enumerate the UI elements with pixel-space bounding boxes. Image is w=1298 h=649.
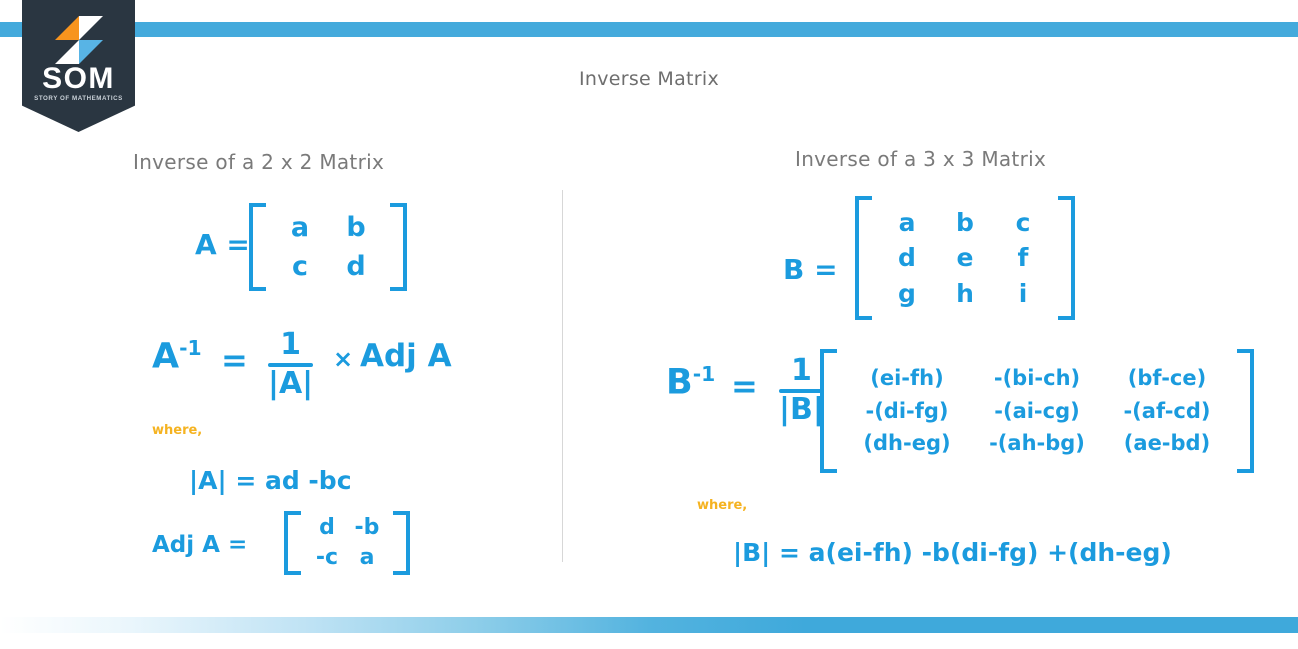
logo-quadrant-bottom-left (55, 40, 79, 64)
fraction-denominator: |B| (779, 394, 824, 426)
matrix-cell: a (347, 543, 387, 573)
matrix-cell: d (307, 513, 347, 543)
bracket-right (393, 511, 410, 575)
slide-canvas: SOM STORY OF MATHEMATICS Inverse Matrix … (0, 0, 1298, 649)
matrix-row: d e f (878, 240, 1052, 276)
matrix-row: -c a (307, 543, 387, 573)
formula-a-base: A (152, 337, 179, 377)
matrix-a-label: A = (195, 228, 250, 261)
logo-quadrant-bottom-right (79, 40, 103, 64)
matrix-cell: h (936, 276, 994, 312)
formula-a-inverse-lhs: A-1 (152, 336, 202, 377)
matrix-cell: d (328, 247, 384, 286)
matrix-cell: e (936, 240, 994, 276)
matrix-cell: -(ai-cg) (971, 395, 1103, 428)
matrix-a: a b c d (249, 203, 407, 291)
bracket-left (284, 511, 301, 575)
bracket-left (855, 196, 872, 320)
section-divider (562, 190, 563, 562)
formula-b-base: B (666, 363, 693, 403)
matrix-cell: g (878, 276, 936, 312)
matrix-cell: c (994, 205, 1052, 241)
bottom-accent-bar (0, 617, 1298, 633)
matrix-cell: -(af-cd) (1103, 395, 1231, 428)
section-heading-3x3: Inverse of a 3 x 3 Matrix (795, 147, 1046, 171)
matrix-cell: b (328, 208, 384, 247)
matrix-adj-b: (ei-fh) -(bi-ch) (bf-ce) -(di-fg) -(ai-c… (820, 349, 1254, 473)
logo-quadrant-top-right (79, 16, 103, 40)
matrix-cell: b (936, 205, 994, 241)
formula-b-inverse-lhs: B-1 (666, 362, 715, 403)
adj-a-label: Adj A = (152, 532, 247, 558)
section-heading-2x2: Inverse of a 2 x 2 Matrix (133, 150, 384, 174)
matrix-cell: -b (347, 513, 387, 543)
matrix-b-label: B = (783, 253, 838, 286)
matrix-cell: c (272, 247, 328, 286)
matrix-cell: (ae-bd) (1103, 427, 1231, 460)
page-title: Inverse Matrix (0, 68, 1298, 90)
matrix-row: a b c (878, 205, 1052, 241)
where-label-left: where, (152, 423, 202, 438)
bracket-left (249, 203, 266, 291)
matrix-cell: a (878, 205, 936, 241)
determinant-b: |B| = a(ei-fh) -b(di-fg) +(dh-eg) (733, 538, 1172, 567)
matrix-cell: a (272, 208, 328, 247)
matrix-cell: (ei-fh) (843, 362, 971, 395)
matrix-b: a b c d e f g h i (855, 196, 1075, 320)
matrix-row: d -b (307, 513, 387, 543)
matrix-row: g h i (878, 276, 1052, 312)
fraction-numerator: 1 (791, 355, 812, 387)
logo-mark-icon (55, 16, 103, 64)
where-label-right: where, (697, 498, 747, 513)
matrix-row: -(di-fg) -(ai-cg) -(af-cd) (843, 395, 1231, 428)
determinant-a: |A| = ad -bc (189, 466, 352, 495)
formula-b-exponent: -1 (693, 362, 716, 386)
matrix-cell: -(di-fg) (843, 395, 971, 428)
formula-b-fraction: 1 |B| (779, 355, 824, 425)
matrix-row: c d (272, 247, 384, 286)
matrix-adj-a: d -b -c a (284, 511, 410, 575)
bracket-right (1237, 349, 1254, 473)
bracket-right (390, 203, 407, 291)
formula-a-rhs: Adj A (360, 338, 452, 374)
matrix-row: (ei-fh) -(bi-ch) (bf-ce) (843, 362, 1231, 395)
fraction-denominator: |A| (268, 368, 313, 400)
matrix-cell: -(bi-ch) (971, 362, 1103, 395)
top-accent-bar (0, 22, 1298, 37)
matrix-cell: f (994, 240, 1052, 276)
matrix-cell: (dh-eg) (843, 427, 971, 460)
formula-a-times: × (333, 345, 353, 373)
formula-a-fraction: 1 |A| (268, 329, 313, 399)
formula-a-equals: = (221, 341, 248, 379)
matrix-cell: i (994, 276, 1052, 312)
matrix-cell: -(ah-bg) (971, 427, 1103, 460)
formula-a-exponent: -1 (179, 336, 202, 360)
matrix-row: a b (272, 208, 384, 247)
formula-b-equals: = (731, 367, 758, 405)
matrix-cell: d (878, 240, 936, 276)
som-logo: SOM STORY OF MATHEMATICS (22, 0, 135, 132)
matrix-row: (dh-eg) -(ah-bg) (ae-bd) (843, 427, 1231, 460)
logo-quadrant-top-left (55, 16, 79, 40)
fraction-numerator: 1 (280, 329, 301, 361)
matrix-cell: (bf-ce) (1103, 362, 1231, 395)
bracket-right (1058, 196, 1075, 320)
logo-tagline: STORY OF MATHEMATICS (22, 95, 135, 102)
bracket-left (820, 349, 837, 473)
matrix-cell: -c (307, 543, 347, 573)
